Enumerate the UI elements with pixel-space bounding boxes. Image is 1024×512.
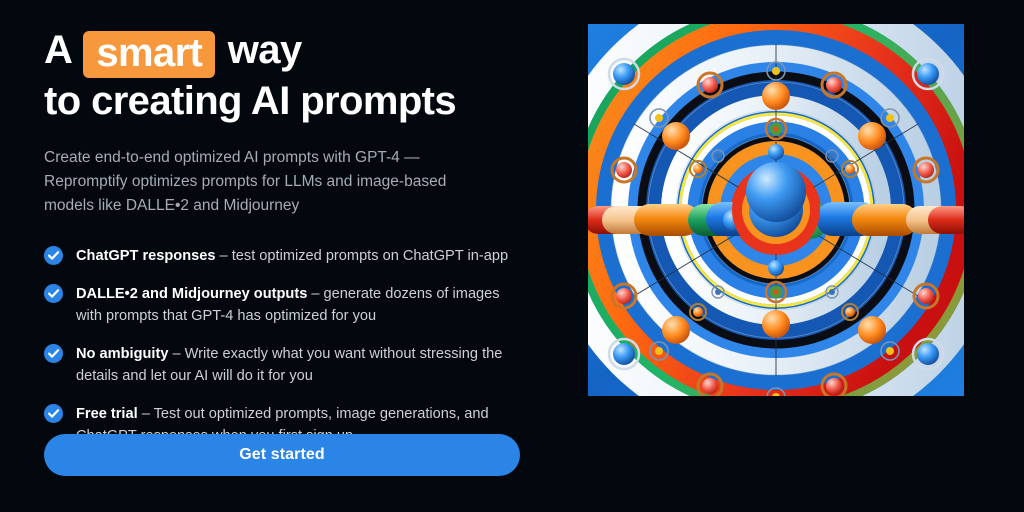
feature-text: ChatGPT responses – test optimized promp…	[76, 245, 508, 267]
feature-text: No ambiguity – Write exactly what you wa…	[76, 343, 516, 387]
page-subtitle: Create end-to-end optimized AI prompts w…	[44, 146, 484, 218]
headline-line-1: A smart way	[44, 27, 520, 78]
list-item: DALLE•2 and Midjourney outputs – generat…	[44, 283, 520, 327]
feature-title: Free trial	[76, 406, 138, 422]
feature-body: – test optimized prompts on ChatGPT in-a…	[216, 248, 509, 264]
hero-content-column: A smart way to creating AI prompts Creat…	[0, 0, 560, 512]
feature-title: DALLE•2 and Midjourney outputs	[76, 286, 307, 302]
hero-landing-page: A smart way to creating AI prompts Creat…	[0, 0, 1024, 512]
check-circle-icon	[44, 246, 63, 265]
headline-highlight: smart	[83, 31, 215, 78]
check-circle-icon	[44, 404, 63, 423]
feature-title: No ambiguity	[76, 346, 168, 362]
page-title: A smart way to creating AI prompts	[44, 27, 520, 125]
headline-text-after: way	[228, 28, 302, 72]
subtitle-line-2: Repromptify optimizes prompts for LLMs a…	[44, 170, 484, 194]
headline-text-before: A	[44, 28, 71, 72]
list-item: No ambiguity – Write exactly what you wa…	[44, 343, 520, 387]
feature-list: ChatGPT responses – test optimized promp…	[44, 245, 520, 447]
hero-artwork	[588, 24, 964, 396]
feature-text: DALLE•2 and Midjourney outputs – generat…	[76, 283, 516, 327]
subtitle-line-1: Create end-to-end optimized AI prompts w…	[44, 146, 484, 170]
get-started-button[interactable]: Get started	[44, 434, 520, 476]
headline-line-2: to creating AI prompts	[44, 78, 520, 125]
feature-title: ChatGPT responses	[76, 248, 216, 264]
list-item: ChatGPT responses – test optimized promp…	[44, 245, 520, 267]
concentric-orbital-rings-artwork	[588, 24, 964, 396]
check-circle-icon	[44, 344, 63, 363]
check-circle-icon	[44, 284, 63, 303]
subtitle-line-3: models like DALLE•2 and Midjourney	[44, 194, 484, 218]
